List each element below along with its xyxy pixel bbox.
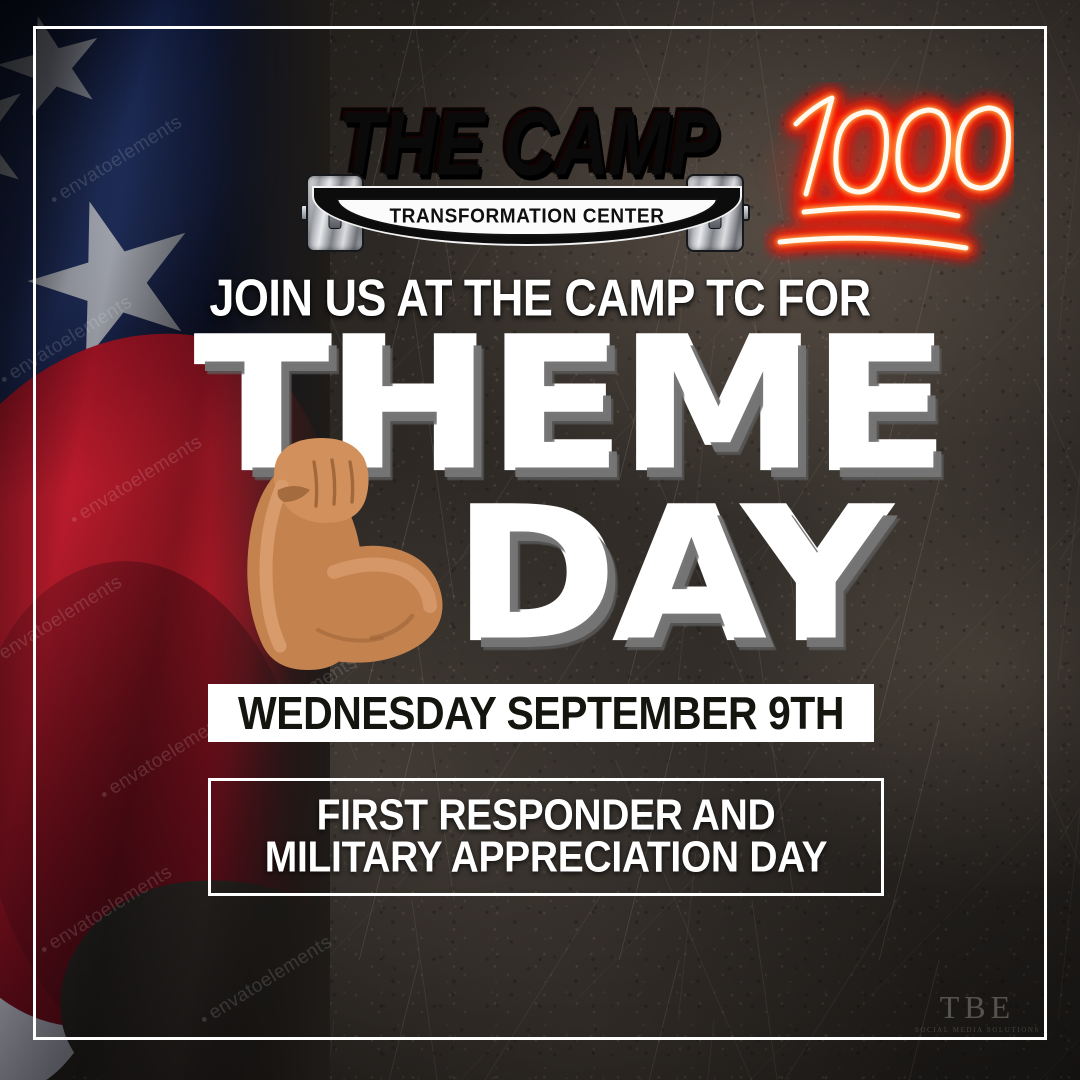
event-theme-box: FIRST RESPONDER AND MILITARY APPRECIATIO… xyxy=(208,778,884,896)
event-date-text: WEDNESDAY SEPTEMBER 9TH xyxy=(238,686,844,740)
logo-wordmark-text: THE CAMP xyxy=(336,89,714,190)
event-theme-line-2: MILITARY APPRECIATION DAY xyxy=(265,836,827,881)
flexed-biceps-icon xyxy=(222,432,454,672)
logo-wordmark: THE CAMP xyxy=(300,88,750,192)
neon-hundred-points-icon xyxy=(762,82,1014,270)
the-camp-logo: THE CAMP TRANSFORMATION CENTER xyxy=(300,88,750,248)
brand-watermark-tagline: SOCIAL MEDIA SOLUTIONS xyxy=(915,1026,1040,1034)
promo-poster: envatoelements envatoelements envatoelem… xyxy=(0,0,1080,1080)
brand-watermark-mark: TBE xyxy=(915,991,1040,1023)
headline-line-2: DAY xyxy=(455,500,979,652)
event-theme-line-1: FIRST RESPONDER AND xyxy=(317,794,776,839)
flexed-biceps-svg xyxy=(222,432,454,672)
event-date-bar: WEDNESDAY SEPTEMBER 9TH xyxy=(208,684,874,742)
brand-watermark: TBE SOCIAL MEDIA SOLUTIONS xyxy=(915,991,1040,1034)
neon-1000-svg xyxy=(762,82,1014,270)
logo-banner: TRANSFORMATION CENTER xyxy=(312,186,738,246)
logo-banner-text: TRANSFORMATION CENTER xyxy=(389,205,664,229)
